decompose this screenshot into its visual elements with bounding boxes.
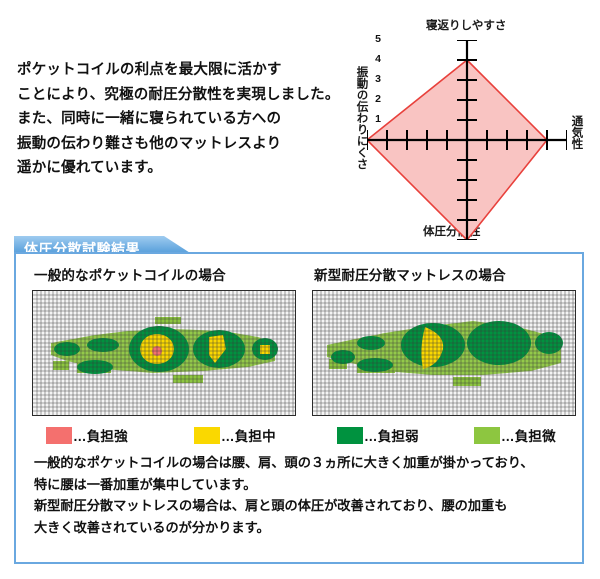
radar-scale-3: 3 [369,73,381,85]
legend-item-slight: …負担微 [474,426,556,444]
radar-plot-area: 5 4 3 2 1 [367,40,567,240]
caption-line: 特に腰は一番加重が集中しています。 [34,474,574,496]
radar-scale-2: 2 [369,93,381,105]
legend-label-slight: …負担微 [501,425,556,445]
pressure-test-results-panel: 一般的なポケットコイルの場合 [14,252,584,564]
intro-line: 振動の伝わり難さも他のマットレスより [17,132,332,157]
map-title-conventional: 一般的なポケットコイルの場合 [34,264,300,284]
map-title-new-mattress: 新型耐圧分散マットレスの場合 [314,264,580,284]
pressure-map-conventional-svg [33,291,295,415]
caption-line: 一般的なポケットコイルの場合は腰、肩、頭の３ヵ所に大きく加重が掛かっており、 [34,452,574,474]
radar-scale-5: 5 [369,33,381,45]
caption-line: 新型耐圧分散マットレスの場合は、肩と頭の体圧が改善されており、腰の加重も [34,495,574,517]
top-section: ポケットコイルの利点を最大限に活かす ことにより、究極の耐圧分散性を実現しました… [0,0,600,240]
legend-label-medium: …負担中 [221,425,276,445]
pressure-map-new-mattress-svg [313,291,575,415]
intro-line: ことにより、究極の耐圧分散性を実現しました。 [17,83,332,108]
intro-line: 遥かに優れています。 [17,156,332,181]
radar-chart: 寝返りしやすさ 体圧分散性 振動の伝わりにくさ 通気性 [350,20,600,245]
legend-item-strong: …負担強 [46,426,128,444]
pressure-map-conventional [32,290,296,416]
radar-axis-label-left: 振動の伝わりにくさ [355,66,368,170]
legend-swatch-slight-icon [474,427,500,444]
intro-line: また、同時に一緒に寝られている方への [17,107,332,132]
legend-item-weak: …負担弱 [337,426,419,444]
legend-label-weak: …負担弱 [364,425,419,445]
radar-axis-label-top: 寝返りしやすさ [426,20,506,33]
pressure-legend: …負担強 …負担中 …負担弱 …負担微 [34,426,579,448]
intro-line: ポケットコイルの利点を最大限に活かす [17,58,332,83]
legend-swatch-medium-icon [194,427,220,444]
legend-swatch-weak-icon [337,427,363,444]
radar-axis-label-right: 通気性 [570,115,583,150]
pressure-map-new-mattress [312,290,576,416]
legend-swatch-strong-icon [46,427,72,444]
panel-caption: 一般的なポケットコイルの場合は腰、肩、頭の３ヵ所に大きく加重が掛かっており、 特… [34,452,574,538]
radar-scale-4: 4 [369,53,381,65]
map-column-new-mattress: 新型耐圧分散マットレスの場合 [312,264,580,416]
legend-label-strong: …負担強 [73,425,128,445]
pressure-maps-row: 一般的なポケットコイルの場合 [16,254,582,429]
radar-scale-1: 1 [369,113,381,125]
radar-data-area [367,60,547,240]
caption-line: 大きく改善されているのが分かります。 [34,517,574,539]
map-column-conventional: 一般的なポケットコイルの場合 [32,264,300,416]
legend-item-medium: …負担中 [194,426,276,444]
radar-svg [367,40,567,240]
intro-paragraph: ポケットコイルの利点を最大限に活かす ことにより、究極の耐圧分散性を実現しました… [17,58,332,181]
